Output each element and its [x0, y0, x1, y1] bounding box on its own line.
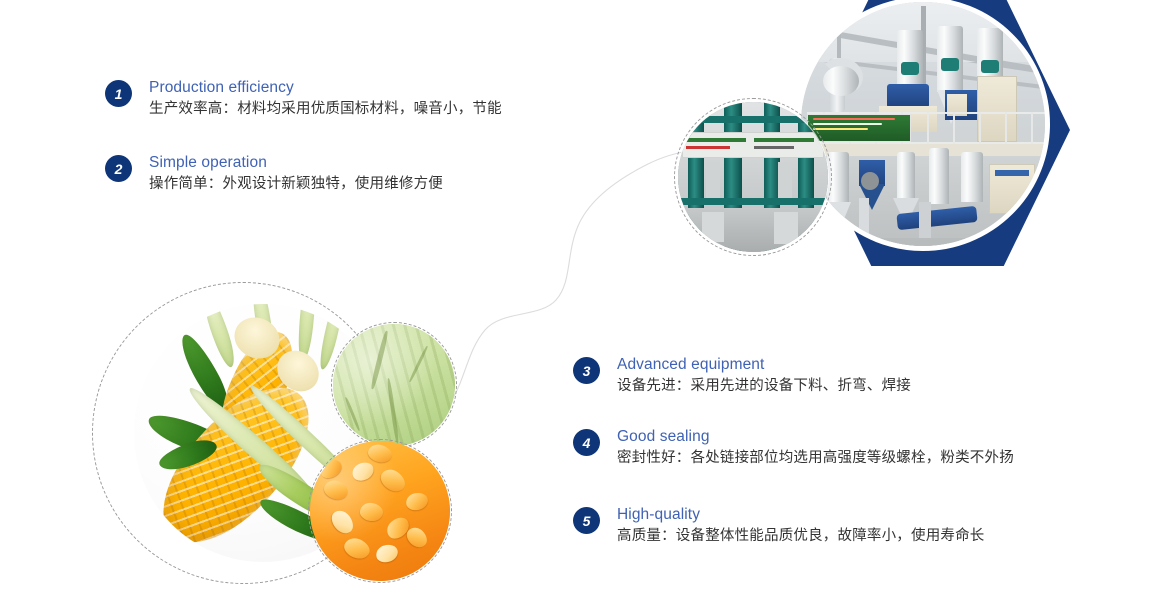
- corn-meal-paste-photo: [333, 324, 455, 446]
- feature-badge-3: 3: [573, 357, 600, 384]
- feature-item-1[interactable]: 1 Production efficiency 生产效率高：材料均采用优质国标材…: [105, 78, 502, 120]
- feature-badge-4: 4: [573, 429, 600, 456]
- feature-item-2[interactable]: 2 Simple operation 操作简单：外观设计新颖独特，使用维修方便: [105, 153, 443, 195]
- infographic-stage: 1 Production efficiency 生产效率高：材料均采用优质国标材…: [0, 0, 1154, 591]
- green-milling-machinery-photo: [678, 102, 828, 252]
- feature-item-3[interactable]: 3 Advanced equipment 设备先进：采用先进的设备下料、折弯、焊…: [573, 355, 911, 397]
- feature-badge-1: 1: [105, 80, 132, 107]
- hexagon-photo-group: [640, 0, 1070, 272]
- feature-desc-5: 高质量：设备整体性能品质优良，故障率小，使用寿命长: [617, 525, 985, 547]
- feature-title-1: Production efficiency: [149, 78, 502, 97]
- feature-badge-5: 5: [573, 507, 600, 534]
- feature-title-4: Good sealing: [617, 427, 1014, 446]
- feature-badge-2: 2: [105, 155, 132, 182]
- feature-desc-2: 操作简单：外观设计新颖独特，使用维修方便: [149, 173, 443, 195]
- feature-title-3: Advanced equipment: [617, 355, 911, 374]
- feature-item-5[interactable]: 5 High-quality 高质量：设备整体性能品质优良，故障率小，使用寿命长: [573, 505, 985, 547]
- feature-desc-4: 密封性好：各处链接部位均选用高强度等级螺栓，粉类不外扬: [617, 447, 1014, 469]
- flour-milling-plant-photo: [796, 0, 1050, 251]
- corn-photo-group: [88, 276, 488, 592]
- feature-item-4[interactable]: 4 Good sealing 密封性好：各处链接部位均选用高强度等级螺栓，粉类不…: [573, 427, 1014, 469]
- feature-desc-1: 生产效率高：材料均采用优质国标材料，噪音小，节能: [149, 98, 502, 120]
- feature-desc-3: 设备先进：采用先进的设备下料、折弯、焊接: [617, 375, 911, 397]
- feature-title-2: Simple operation: [149, 153, 443, 172]
- feature-title-5: High-quality: [617, 505, 985, 524]
- corn-grits-photo: [310, 441, 450, 581]
